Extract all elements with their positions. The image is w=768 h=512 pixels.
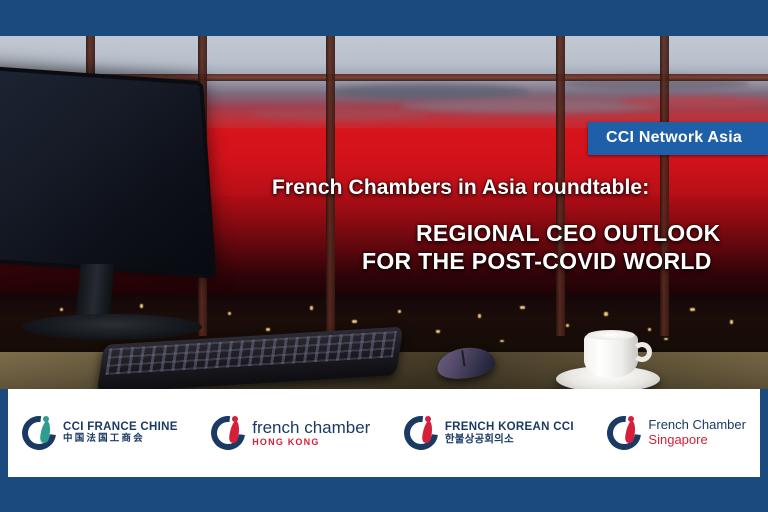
city-light (500, 340, 504, 342)
cloud-streak (330, 84, 530, 100)
city-light (352, 320, 357, 323)
cup-handle (632, 342, 652, 362)
logo-title: FRENCH KOREAN CCI (445, 421, 574, 434)
window-mullion-vertical (660, 36, 669, 336)
city-light (648, 328, 651, 331)
logo-french-chamber-hong-kong[interactable]: french chamber HONG KONG (211, 416, 370, 450)
city-light (730, 320, 733, 324)
logo-subtitle: 中国法国工商会 (63, 434, 178, 445)
partner-logo-bar: CCI FRANCE CHINE 中国法国工商会 french chamber … (8, 389, 760, 477)
city-light (228, 312, 231, 315)
window-mullion-vertical (326, 36, 335, 336)
logo-subtitle: HONG KONG (252, 437, 370, 447)
status-badge: CCI Network Asia (588, 122, 768, 155)
cci-c-mark-icon (404, 416, 438, 450)
logo-text: CCI FRANCE CHINE 中国法国工商会 (63, 421, 178, 445)
city-light (60, 308, 63, 311)
city-light (140, 304, 143, 308)
window-mullion-vertical (556, 36, 565, 336)
cci-c-mark-icon (22, 416, 56, 450)
city-light (520, 306, 525, 309)
logo-french-korean-cci[interactable]: FRENCH KOREAN CCI 한불상공회의소 (404, 416, 574, 450)
city-light (310, 306, 313, 310)
logo-subtitle: 한불상공회의소 (445, 434, 574, 446)
logo-title: french chamber (252, 418, 370, 437)
city-light (478, 314, 481, 318)
coffee-cup (584, 334, 638, 378)
cci-c-mark-icon (607, 416, 641, 450)
logo-text: FRENCH KOREAN CCI 한불상공회의소 (445, 421, 574, 446)
city-light (690, 308, 695, 311)
logo-text: french chamber HONG KONG (252, 418, 370, 447)
monitor-stand-base (22, 314, 202, 340)
city-light (566, 324, 569, 327)
logo-french-chamber-singapore[interactable]: French Chamber Singapore (607, 416, 746, 450)
cloud-streak (620, 96, 768, 108)
logo-text: French Chamber Singapore (648, 418, 746, 447)
city-light (664, 338, 668, 340)
logo-title: French Chamber (648, 418, 746, 433)
hero-photo: CCI Network Asia French Chambers in Asia… (0, 36, 768, 389)
city-light (436, 330, 440, 333)
logo-cci-france-chine[interactable]: CCI FRANCE CHINE 中国法国工商会 (22, 416, 178, 450)
city-light (604, 312, 608, 316)
cloud-streak (250, 108, 430, 120)
cci-c-mark-icon (211, 416, 245, 450)
logo-subtitle: Singapore (648, 433, 746, 448)
poster-frame: CCI Network Asia French Chambers in Asia… (0, 0, 768, 512)
city-light (398, 310, 401, 313)
monitor-bezel (0, 65, 217, 278)
city-light (266, 328, 270, 331)
